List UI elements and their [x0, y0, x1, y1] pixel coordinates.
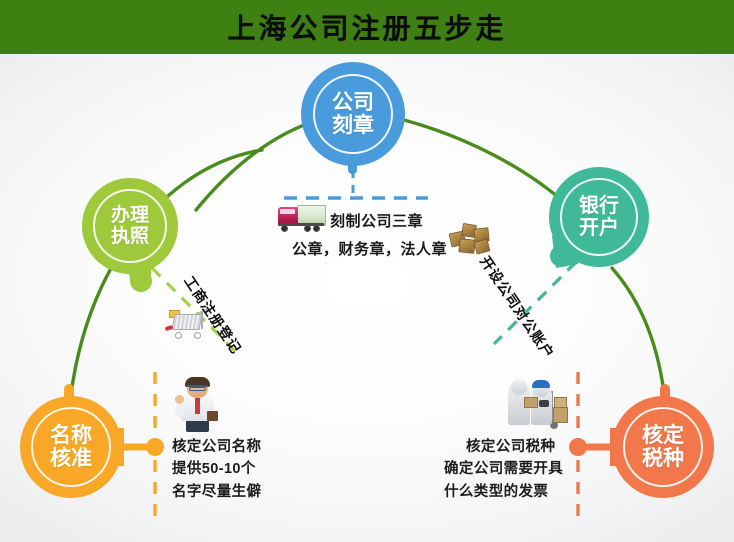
step-label-tax-assessment: 核定 税种	[642, 424, 684, 469]
truck-icon	[278, 203, 324, 233]
step-node-bank-account[interactable]: 银行 开户	[549, 167, 649, 267]
arc-segment-3	[404, 120, 566, 204]
desc-company-seal: 刻制公司三章	[330, 210, 423, 231]
step-label-business-license: 办理 执照	[111, 205, 149, 246]
desc-line: 刻制公司三章	[330, 210, 423, 231]
step-node-company-seal[interactable]: 公司 刻章	[301, 62, 405, 166]
desc-line: 核定公司名称	[172, 436, 261, 458]
step-label-bank-account: 银行 开户	[579, 195, 619, 238]
desc-name-approval: 核定公司名称 提供50-10个 名字尽量生僻	[172, 436, 261, 503]
businessman-thumbsup-icon	[176, 378, 220, 432]
desc-line: 提供50-10个	[172, 458, 261, 480]
infographic-canvas: 上海公司注册五步走	[0, 0, 734, 542]
desc-line: 确定公司需要开具	[444, 458, 563, 480]
marker-dot-tax	[569, 438, 587, 456]
cardboard-boxes-icon	[448, 222, 494, 256]
step-label-company-seal: 公司 刻章	[332, 91, 374, 136]
step-node-business-license[interactable]: 办理 执照	[82, 178, 178, 274]
marker-dot-name-approval	[146, 438, 164, 456]
desc-company-seal-line2: 公章，财务章，法人章	[292, 238, 447, 259]
step-node-tax-assessment[interactable]: 核定 税种	[612, 396, 714, 498]
step-node-name-approval[interactable]: 名称 核准	[20, 396, 122, 498]
delivery-workers-icon	[506, 381, 578, 427]
desc-line: 什么类型的发票	[444, 481, 563, 503]
desc-line: 名字尽量生僻	[172, 481, 261, 503]
step-label-name-approval: 名称 核准	[50, 424, 92, 469]
desc-line: 公章，财务章，法人章	[292, 238, 447, 259]
desc-tax-assessment: 核定公司税种 确定公司需要开具 什么类型的发票	[466, 436, 563, 503]
desc-line: 核定公司税种	[466, 436, 563, 458]
